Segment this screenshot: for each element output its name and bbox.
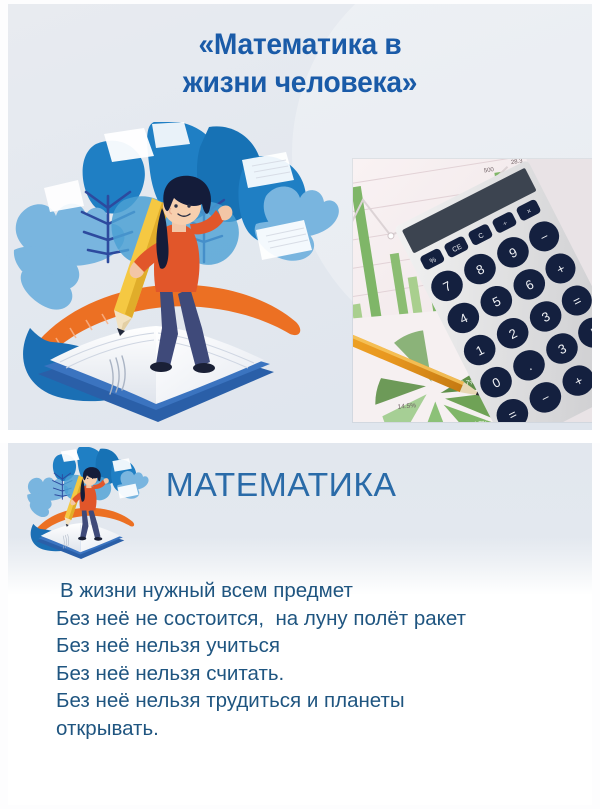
poem-text: В жизни нужный всем предмет Без неё не с… [56,577,576,742]
girl-on-book-illustration-small [12,447,162,559]
poem-line-2: Без неё не состоится, на луну полёт раке… [56,605,576,633]
title-line-1: «Математика в [26,26,575,64]
title-line-2: жизни человека» [26,64,575,102]
poem-line-5: Без неё нельзя трудиться и планеты [56,687,576,715]
girl-on-book-illustration [8,122,344,422]
math-heading: МАТЕМАТИКА [166,466,594,504]
poem-line-6: открывать. [56,715,576,743]
poem-line-3: Без неё нельзя учиться [56,632,576,660]
slide-1: «Математика в жизни человека» [8,4,592,430]
presentation-page: «Математика в жизни человека» [0,0,600,809]
slide-divider [0,430,600,443]
poem-line-1: В жизни нужный всем предмет [56,577,576,605]
page-title: «Математика в жизни человека» [8,26,592,102]
poem-line-4: Без неё нельзя считать. [56,660,576,688]
financial-charts-photo: 1377 2100 1505 2059 2195 2300 60508.3 50… [353,159,592,422]
